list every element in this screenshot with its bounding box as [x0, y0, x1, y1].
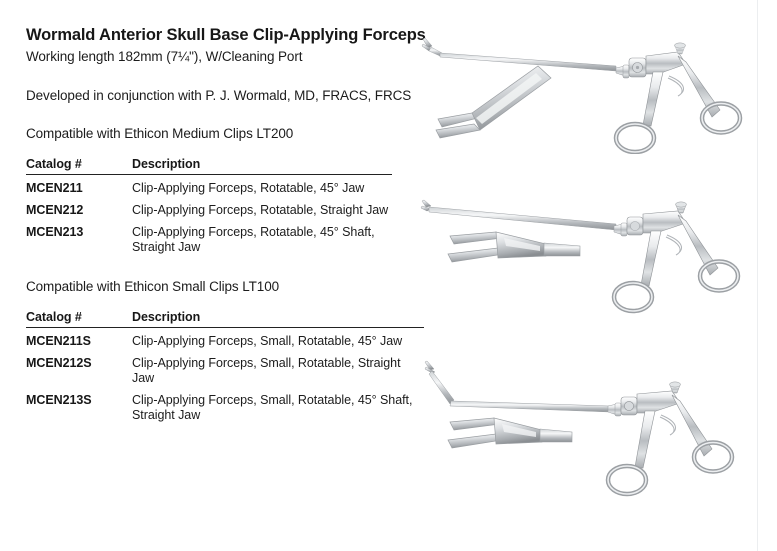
forceps-45-degree-jaw-photo	[420, 26, 760, 154]
product-figure-mcen212: MCEN212 MCEN212S	[420, 196, 777, 346]
catalog-number: MCEN211S	[26, 328, 110, 351]
column-header-catalog: Catalog #	[26, 310, 110, 328]
catalog-number: MCEN212S	[26, 350, 110, 387]
development-note: Developed in conjunction with P. J. Worm…	[26, 88, 436, 103]
catalog-number: MCEN212	[26, 197, 110, 219]
catalog-description: Clip-Applying Forceps, Rotatable, Straig…	[110, 197, 392, 219]
catalog-table-medium-clips: Catalog # Description MCEN211 Clip-Apply…	[26, 157, 392, 256]
catalog-description: Clip-Applying Forceps, Small, Rotatable,…	[110, 328, 424, 351]
catalog-number: MCEN213S	[26, 387, 110, 424]
product-info-column: Wormald Anterior Skull Base Clip-Applyin…	[26, 25, 436, 424]
column-header-description: Description	[110, 157, 392, 175]
catalog-page: Wormald Anterior Skull Base Clip-Applyin…	[0, 0, 777, 551]
forceps-45-degree-shaft-photo	[420, 356, 760, 501]
table-row: MCEN211 Clip-Applying Forceps, Rotatable…	[26, 175, 392, 198]
catalog-description: Clip-Applying Forceps, Rotatable, 45° Ja…	[110, 175, 392, 198]
table-row: MCEN211S Clip-Applying Forceps, Small, R…	[26, 328, 424, 351]
table-row: MCEN213S Clip-Applying Forceps, Small, R…	[26, 387, 424, 424]
product-figure-mcen211: MCEN211 MCEN211S	[420, 26, 777, 186]
catalog-number: MCEN213	[26, 219, 110, 256]
product-subtitle: Working length 182mm (7¼"), W/Cleaning P…	[26, 47, 436, 66]
forceps-straight-jaw-photo	[420, 196, 760, 316]
catalog-description: Clip-Applying Forceps, Rotatable, 45° Sh…	[110, 219, 392, 256]
table-header-row: Catalog # Description	[26, 310, 424, 328]
table-row: MCEN212S Clip-Applying Forceps, Small, R…	[26, 350, 424, 387]
column-header-description: Description	[110, 310, 424, 328]
section-heading-medium-clips: Compatible with Ethicon Medium Clips LT2…	[26, 126, 436, 141]
catalog-number: MCEN211	[26, 175, 110, 198]
catalog-description: Clip-Applying Forceps, Small, Rotatable,…	[110, 387, 424, 424]
catalog-description: Clip-Applying Forceps, Small, Rotatable,…	[110, 350, 424, 387]
product-figure-mcen213: MCEN213 MCEN213S	[420, 356, 777, 546]
table-header-row: Catalog # Description	[26, 157, 392, 175]
table-row: MCEN212 Clip-Applying Forceps, Rotatable…	[26, 197, 392, 219]
column-header-catalog: Catalog #	[26, 157, 110, 175]
section-heading-small-clips: Compatible with Ethicon Small Clips LT10…	[26, 279, 436, 294]
table-row: MCEN213 Clip-Applying Forceps, Rotatable…	[26, 219, 392, 256]
catalog-table-small-clips: Catalog # Description MCEN211S Clip-Appl…	[26, 310, 424, 424]
page-title: Wormald Anterior Skull Base Clip-Applyin…	[26, 25, 436, 45]
